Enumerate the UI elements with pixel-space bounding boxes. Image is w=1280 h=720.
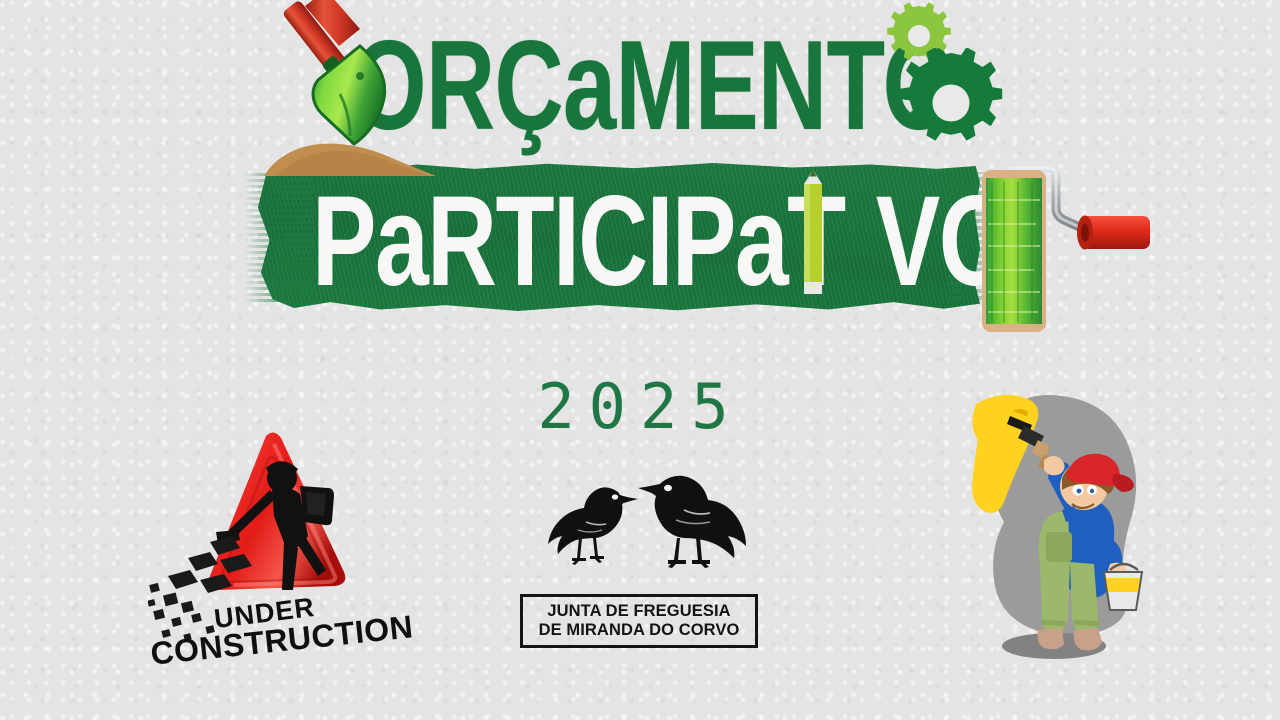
painter-shoe-left [1038,628,1064,649]
shovel-icon [262,0,432,190]
junta-de-freguesia-logo: JUNTA DE FREGUESIA DE MIRANDA DO CORVO [514,466,770,666]
two-crows-icon [534,466,750,582]
junta-line-2: DE MIRANDA DO CORVO [539,621,740,640]
junta-line-1: JUNTA DE FREGUESIA [547,602,730,621]
paint-roller-icon [952,142,1152,357]
headline-participativo-part1: PaRTICIPaT [312,171,845,313]
under-construction-badge: UNDER CONSTRUCTION [148,424,412,670]
painter-shoe-right [1074,628,1102,650]
pencil-icon [800,168,826,298]
crow-large-icon [638,476,746,568]
painter-illustration [958,382,1172,670]
headline-participativo: PaRTICIPaTVO [312,178,1012,306]
junta-name-box: JUNTA DE FREGUESIA DE MIRANDA DO CORVO [520,594,758,648]
crow-small-icon [548,487,638,565]
poster-canvas: ORÇaMENTO PaRTICIPaTVO [0,0,1280,720]
painter-overalls [1039,512,1070,634]
headline-orcamento: ORÇaMENTO [352,22,956,149]
